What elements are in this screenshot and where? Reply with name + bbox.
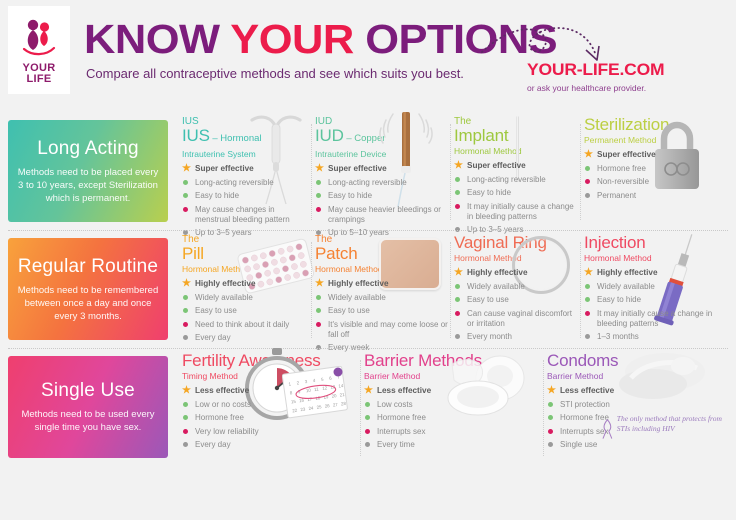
feature-item: Permanent	[584, 191, 734, 201]
feature-text: May cause heavier bleedings or crampings	[328, 205, 441, 224]
feature-item: Widely available	[182, 293, 311, 303]
star-icon: ★	[364, 386, 373, 395]
method-name: Pill	[182, 245, 311, 263]
feature-item: STI protection	[547, 400, 734, 410]
feature-item: 1–3 months	[584, 332, 734, 342]
method-card[interactable]: 1234567891011121314151617181920212223242…	[178, 352, 358, 466]
positive-bullet-icon	[316, 295, 321, 300]
feature-text: 1–3 months	[597, 332, 639, 341]
feature-item: ★Highly effective	[454, 268, 580, 278]
methods-container: 1234567891011121314151617181920212223242…	[178, 352, 732, 466]
negative-bullet-icon	[365, 429, 370, 434]
positive-bullet-icon	[183, 415, 188, 420]
method-name: Fertility Awareness	[182, 352, 358, 370]
feature-list: ★Less effectiveLow or no costsHormone fr…	[182, 386, 358, 450]
method-name: Injection	[584, 234, 734, 252]
category-description: Methods need to be used every single tim…	[16, 408, 160, 434]
category-description: Methods need to be remembered between on…	[16, 284, 160, 323]
star-icon: ★	[454, 268, 463, 277]
category-title: Single Use	[41, 380, 135, 402]
method-subtitle: Permanent Method	[584, 135, 734, 145]
method-subtitle: Hormonal Method	[454, 146, 580, 156]
star-icon: ★	[182, 386, 191, 395]
star-icon: ★	[454, 161, 463, 170]
method-card[interactable]: InjectionHormonal Method★Highly effectiv…	[580, 234, 734, 348]
feature-text: Less effective	[195, 386, 249, 395]
infographic-page: YOUR LIFE KNOW YOUR OPTIONS Compare all …	[0, 0, 736, 520]
feature-text: It may initially cause a change in bleed…	[467, 202, 574, 221]
header: YOUR LIFE KNOW YOUR OPTIONS Compare all …	[0, 0, 736, 112]
method-name: IUS – Hormonal	[182, 127, 311, 148]
feature-text: Permanent	[597, 191, 636, 200]
feature-item: Easy to use	[315, 306, 451, 316]
feature-list: ★Super effectiveLong-acting reversibleEa…	[182, 164, 311, 238]
feature-item: Every day	[182, 333, 311, 343]
feature-text: Can cause vaginal discomfort or irritati…	[467, 309, 572, 328]
category-card: Regular RoutineMethods need to be rememb…	[8, 238, 168, 340]
method-kind: – Copper	[344, 133, 386, 144]
method-name: Barrier Methods	[364, 352, 543, 370]
feature-item: ★Super effective	[454, 161, 580, 171]
neutral-bullet-icon	[365, 442, 370, 447]
positive-bullet-icon	[455, 297, 460, 302]
feature-text: Super effective	[467, 161, 526, 170]
logo-line-2: LIFE	[23, 74, 56, 85]
positive-bullet-icon	[183, 193, 188, 198]
feature-text: Easy to hide	[467, 188, 511, 197]
feature-text: Easy to hide	[328, 191, 372, 200]
feature-item: Easy to hide	[584, 295, 734, 305]
method-card[interactable]: IUSIUS – HormonalIntrauterine System★Sup…	[178, 116, 311, 230]
feature-item: Easy to hide	[315, 191, 451, 201]
positive-bullet-icon	[365, 402, 370, 407]
feature-text: It's visible and may come loose or fall …	[328, 320, 448, 339]
neutral-bullet-icon	[585, 193, 590, 198]
feature-item: Easy to hide	[454, 188, 580, 198]
feature-item: Easy to use	[182, 306, 311, 316]
site-subtext: or ask your healthcare provider.	[527, 83, 660, 93]
site-block[interactable]: YOUR-LIFE.COM or ask your healthcare pro…	[527, 60, 660, 93]
method-subtitle: Barrier Method	[364, 371, 543, 381]
negative-bullet-icon	[455, 204, 460, 209]
feature-item: Every month	[454, 332, 580, 342]
feature-text: STI protection	[560, 400, 610, 409]
method-subtitle: Hormonal Method	[454, 253, 580, 263]
method-card[interactable]: Barrier MethodsBarrier Method★Less effec…	[360, 352, 543, 466]
method-subtitle: Hormonal Method	[315, 264, 451, 274]
feature-item: ★Super effective	[584, 150, 734, 160]
logo: YOUR LIFE	[8, 6, 70, 94]
feature-text: Every time	[377, 440, 415, 449]
method-name: Vaginal Ring	[454, 234, 580, 252]
feature-text: Need to think about it daily	[195, 320, 289, 329]
method-card[interactable]: SterilizationPermanent Method★Super effe…	[580, 116, 734, 230]
method-card[interactable]: TheImplantHormonal Method★Super effectiv…	[450, 116, 580, 230]
feature-text: Highly effective	[597, 268, 658, 277]
method-row: Long ActingMethods need to be placed eve…	[0, 112, 736, 230]
feature-item: Hormone free	[364, 413, 543, 423]
feature-item: Non-reversible	[584, 177, 734, 187]
feature-text: Highly effective	[467, 268, 528, 277]
negative-bullet-icon	[585, 311, 590, 316]
feature-item: Hormone free	[584, 164, 734, 174]
feature-item: Every time	[364, 440, 543, 450]
method-subtitle: Timing Method	[182, 371, 358, 381]
neutral-bullet-icon	[183, 335, 188, 340]
method-card[interactable]: IUDIUD – CopperIntrauterine Device★Super…	[311, 116, 451, 230]
feature-item: It may initially cause a change in bleed…	[454, 202, 580, 222]
feature-text: Interrupts sex	[377, 427, 425, 436]
negative-bullet-icon	[585, 179, 590, 184]
feature-text: Long-acting reversible	[467, 175, 546, 184]
site-url[interactable]: YOUR-LIFE.COM	[527, 60, 664, 80]
heart-figure-logo-icon	[20, 16, 58, 62]
feature-text: Widely available	[328, 293, 386, 302]
feature-text: Easy to use	[328, 306, 370, 315]
feature-list: ★Highly effectiveWidely availableEasy to…	[584, 268, 734, 342]
title-block: KNOW YOUR OPTIONS Compare all contracept…	[84, 18, 530, 81]
feature-item: May cause heavier bleedings or crampings	[315, 205, 451, 225]
feature-item: ★Less effective	[182, 386, 358, 396]
feature-text: Super effective	[328, 164, 387, 173]
feature-list: ★Highly effectiveWidely availableEasy to…	[315, 279, 451, 353]
feature-text: Easy to use	[467, 295, 509, 304]
method-name: IUD – Copper	[315, 127, 451, 148]
method-subtitle: Intrauterine Device	[315, 149, 451, 159]
feature-text: Easy to hide	[597, 295, 641, 304]
feature-item: ★Super effective	[315, 164, 451, 174]
feature-item: Very low reliability	[182, 427, 358, 437]
feature-text: Non-reversible	[597, 177, 649, 186]
positive-bullet-icon	[183, 402, 188, 407]
feature-text: Less effective	[560, 386, 614, 395]
category-card: Single UseMethods need to be used every …	[8, 356, 168, 458]
logo-line-1: YOUR	[23, 63, 56, 74]
feature-text: May cause changes in menstrual bleeding …	[195, 205, 290, 224]
neutral-bullet-icon	[548, 442, 553, 447]
positive-bullet-icon	[548, 402, 553, 407]
positive-bullet-icon	[183, 180, 188, 185]
feature-item: ★Highly effective	[584, 268, 734, 278]
method-name: Sterilization	[584, 116, 734, 134]
methods-container: IUSIUS – HormonalIntrauterine System★Sup…	[178, 116, 732, 230]
feature-item: Long-acting reversible	[454, 175, 580, 185]
feature-item: ★Highly effective	[182, 279, 311, 289]
feature-text: Low or no costs	[195, 400, 251, 409]
feature-text: Single use	[560, 440, 597, 449]
method-subtitle: Hormonal Method	[584, 253, 734, 263]
category-title: Regular Routine	[18, 256, 158, 278]
positive-bullet-icon	[585, 166, 590, 171]
feature-list: ★Super effectiveLong-acting reversibleEa…	[315, 164, 451, 238]
star-icon: ★	[584, 150, 593, 159]
feature-text: Super effective	[597, 150, 656, 159]
star-icon: ★	[315, 279, 324, 288]
positive-bullet-icon	[455, 190, 460, 195]
feature-item: ★Less effective	[547, 386, 734, 396]
feature-text: Widely available	[467, 282, 525, 291]
feature-item: Long-acting reversible	[315, 178, 451, 188]
feature-text: Widely available	[195, 293, 253, 302]
feature-text: Hormone free	[597, 164, 646, 173]
title-part-1: KNOW	[84, 16, 230, 62]
feature-list: ★Highly effectiveWidely availableEasy to…	[182, 279, 311, 343]
feature-item: ★Super effective	[182, 164, 311, 174]
feature-item: ★Less effective	[364, 386, 543, 396]
positive-bullet-icon	[183, 308, 188, 313]
feature-item: Hormone free	[182, 413, 358, 423]
methods-container: ThePillHormonal Method★Highly effectiveW…	[178, 234, 732, 348]
rows-container: Long ActingMethods need to be placed eve…	[0, 112, 736, 466]
star-icon: ★	[547, 386, 556, 395]
method-name: Condoms	[547, 352, 734, 370]
neutral-bullet-icon	[455, 334, 460, 339]
feature-text: Less effective	[377, 386, 431, 395]
feature-text: Highly effective	[195, 279, 256, 288]
feature-text: Low costs	[377, 400, 413, 409]
feature-text: Easy to hide	[195, 191, 239, 200]
negative-bullet-icon	[316, 322, 321, 327]
feature-list: ★Highly effectiveWidely availableEasy to…	[454, 268, 580, 342]
method-row: Regular RoutineMethods need to be rememb…	[0, 230, 736, 348]
feature-text: Every month	[467, 332, 512, 341]
neutral-bullet-icon	[585, 334, 590, 339]
feature-text: Every day	[195, 333, 231, 342]
method-card[interactable]: ThePillHormonal Method★Highly effectiveW…	[178, 234, 311, 348]
feature-item: Every day	[182, 440, 358, 450]
feature-list: ★Less effectiveLow costsHormone freeInte…	[364, 386, 543, 450]
category-card: Long ActingMethods need to be placed eve…	[8, 120, 168, 222]
feature-item: Easy to use	[454, 295, 580, 305]
sti-note-text: The only method that protects from STIs …	[617, 414, 734, 433]
positive-bullet-icon	[365, 415, 370, 420]
feature-item: Widely available	[315, 293, 451, 303]
positive-bullet-icon	[316, 193, 321, 198]
feature-text: Widely available	[597, 282, 655, 291]
feature-text: Long-acting reversible	[195, 178, 274, 187]
negative-bullet-icon	[183, 429, 188, 434]
feature-item: Interrupts sex	[364, 427, 543, 437]
category-title: Long Acting	[37, 138, 139, 160]
feature-item: Widely available	[584, 282, 734, 292]
positive-bullet-icon	[585, 297, 590, 302]
category-description: Methods need to be placed every 3 to 10 …	[16, 166, 160, 205]
star-icon: ★	[584, 268, 593, 277]
feature-item: Need to think about it daily	[182, 320, 311, 330]
neutral-bullet-icon	[183, 442, 188, 447]
method-name: Patch	[315, 245, 451, 263]
feature-item: It's visible and may come loose or fall …	[315, 320, 451, 340]
feature-item: Low costs	[364, 400, 543, 410]
feature-item: Can cause vaginal discomfort or irritati…	[454, 309, 580, 329]
awareness-ribbon-icon	[601, 414, 614, 444]
negative-bullet-icon	[183, 322, 188, 327]
page-subtitle: Compare all contraceptive methods and se…	[86, 66, 530, 81]
feature-text: Highly effective	[328, 279, 389, 288]
positive-bullet-icon	[548, 415, 553, 420]
feature-text: Hormone free	[195, 413, 244, 422]
positive-bullet-icon	[455, 284, 460, 289]
feature-text: It may initially cause a change in bleed…	[597, 309, 712, 328]
method-card[interactable]: Vaginal RingHormonal Method★Highly effec…	[450, 234, 580, 348]
feature-text: Easy to use	[195, 306, 237, 315]
positive-bullet-icon	[455, 177, 460, 182]
star-icon: ★	[182, 164, 191, 173]
method-name: Implant	[454, 127, 580, 145]
feature-text: Every day	[195, 440, 231, 449]
star-icon: ★	[315, 164, 324, 173]
negative-bullet-icon	[548, 429, 553, 434]
method-subtitle: Hormonal Method	[182, 264, 311, 274]
positive-bullet-icon	[585, 284, 590, 289]
feature-item: ★Highly effective	[315, 279, 451, 289]
feature-item: Easy to hide	[182, 191, 311, 201]
feature-text: Super effective	[195, 164, 254, 173]
feature-text: Very low reliability	[195, 427, 259, 436]
negative-bullet-icon	[183, 207, 188, 212]
feature-list: ★Super effectiveHormone freeNon-reversib…	[584, 150, 734, 201]
feature-item: Widely available	[454, 282, 580, 292]
method-subtitle: Intrauterine System	[182, 149, 311, 159]
row-separator	[8, 230, 728, 232]
feature-text: Long-acting reversible	[328, 178, 407, 187]
title-accent: YOUR	[230, 16, 353, 62]
method-card[interactable]: CondomsBarrier Method★Less effectiveSTI …	[543, 352, 734, 466]
sti-note: The only method that protects from STIs …	[601, 414, 734, 444]
feature-item: It may initially cause a change in bleed…	[584, 309, 734, 329]
method-subtitle: Barrier Method	[547, 371, 734, 381]
feature-item: Low or no costs	[182, 400, 358, 410]
negative-bullet-icon	[455, 311, 460, 316]
feature-item: Long-acting reversible	[182, 178, 311, 188]
positive-bullet-icon	[316, 180, 321, 185]
negative-bullet-icon	[316, 207, 321, 212]
method-row: Single UseMethods need to be used every …	[0, 348, 736, 466]
row-separator	[8, 348, 728, 350]
positive-bullet-icon	[183, 295, 188, 300]
method-kind: – Hormonal	[210, 133, 262, 144]
feature-item: May cause changes in menstrual bleeding …	[182, 205, 311, 225]
star-icon: ★	[182, 279, 191, 288]
positive-bullet-icon	[316, 308, 321, 313]
feature-text: Hormone free	[377, 413, 426, 422]
method-card[interactable]: ThePatchHormonal Method★Highly effective…	[311, 234, 451, 348]
feature-list: ★Super effectiveLong-acting reversibleEa…	[454, 161, 580, 235]
